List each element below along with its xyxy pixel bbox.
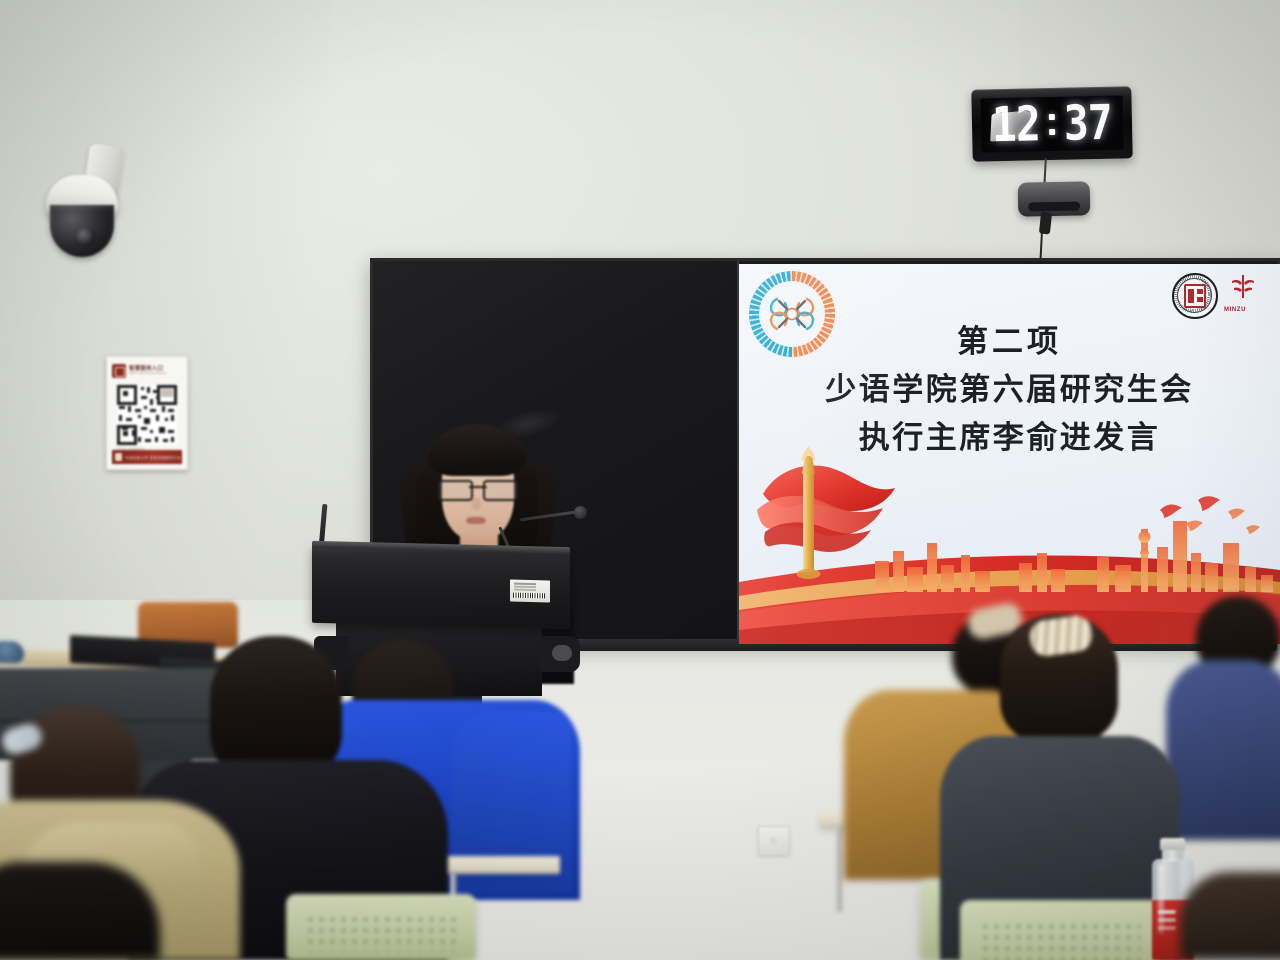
slide-text-block: 第二项 少语学院第六届研究生会 执行主席李俞进发言 <box>739 320 1280 460</box>
chair-perforations <box>980 921 1140 960</box>
red-flag-torch-graphic <box>745 444 925 594</box>
chair-perforations <box>305 914 457 952</box>
poster-footer-text: 中央民族大学 智慧校园服务平台 <box>125 455 181 460</box>
glasses-lens-left <box>438 480 473 501</box>
desk-leg <box>836 826 842 912</box>
classroom-photo: 智慧服务入口 SMART SERVICE ENTRANCE <box>0 0 1280 960</box>
clock-minutes: 37 <box>1063 99 1112 148</box>
university-badge-icon <box>112 364 126 378</box>
speaker-nose <box>472 498 481 510</box>
qr-service-poster: 智慧服务入口 SMART SERVICE ENTRANCE <box>106 356 188 470</box>
slide-line-3: 执行主席李俞进发言 <box>739 416 1280 460</box>
minzu-university-seal-icon <box>1172 273 1214 315</box>
camera-lens-icon <box>74 227 96 247</box>
bottle-highlight <box>1158 864 1164 934</box>
bottle-cap <box>1160 838 1185 850</box>
clock-hours: 12 <box>992 100 1041 149</box>
poster-footer: 中央民族大学 智慧校园服务平台 <box>112 450 182 464</box>
classroom-chair[interactable] <box>286 894 476 960</box>
slide-line-1: 第二项 <box>739 320 1280 364</box>
asset-barcode-sticker <box>510 580 550 603</box>
wall-digital-clock: 12 37 <box>971 86 1132 161</box>
poster-footer-logo-icon <box>115 453 122 461</box>
wall-power-outlet[interactable] <box>758 826 790 856</box>
speaker-fringe <box>428 434 526 476</box>
sensor-bar-bracket <box>1039 211 1052 234</box>
camera-dome <box>50 205 114 257</box>
ptz-dome-security-camera <box>40 143 120 258</box>
presentation-screen[interactable]: MINZU 第二项 少语学院第六届研究生会 执行主席李俞进发言 <box>739 264 1280 644</box>
clock-colon-icon <box>1049 113 1055 134</box>
audience-torso <box>1166 660 1280 840</box>
slide-line-2: 少语学院第六届研究生会 <box>739 368 1280 412</box>
qr-code-icon <box>117 385 177 445</box>
poster-subtitle: SMART SERVICE ENTRANCE <box>129 373 166 376</box>
speaker-mouth <box>466 517 486 524</box>
desk-mouse[interactable] <box>0 641 24 664</box>
sensor-lens-icon <box>1028 202 1080 212</box>
flying-doves-graphic <box>1154 494 1274 546</box>
speaker-glasses-icon <box>438 480 518 498</box>
minzu-brand-label: MINZU <box>1224 307 1246 313</box>
poster-header: 智慧服务入口 SMART SERVICE ENTRANCE <box>112 362 182 380</box>
classroom-chair[interactable] <box>960 900 1160 960</box>
microphone-head-icon <box>574 506 587 519</box>
audience-shoulder-foreground-right <box>1180 872 1280 960</box>
bottle-neck <box>1162 849 1183 861</box>
clock-display: 12 37 <box>980 96 1123 153</box>
glasses-lens-right <box>483 480 518 501</box>
minzu-brand-logo-icon: MINZU <box>1224 274 1274 314</box>
ceiling-sensor-bar <box>1018 181 1091 216</box>
audience-head <box>210 636 342 778</box>
wall-shadow-left <box>0 0 330 700</box>
podium-wing-right <box>540 636 580 672</box>
